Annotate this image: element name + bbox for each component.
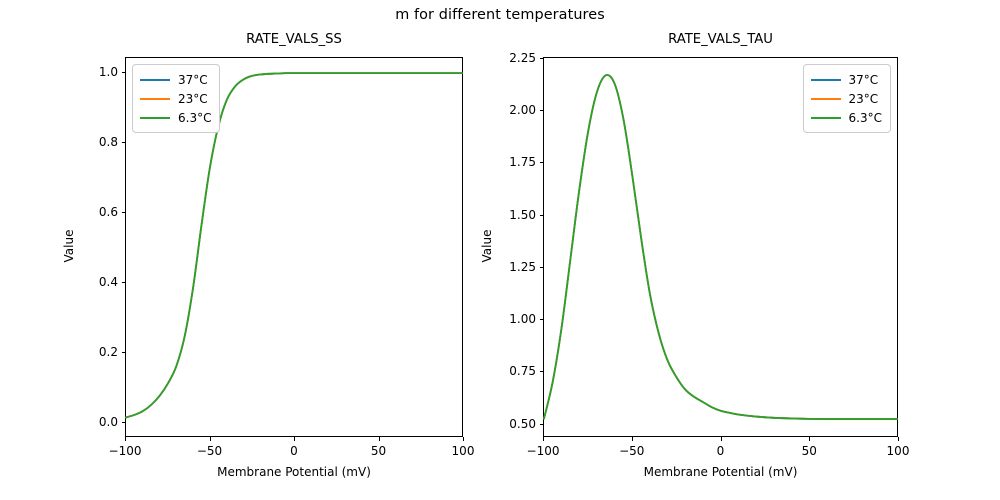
legend-line-swatch-icon — [811, 79, 841, 81]
legend-label: 23°C — [849, 93, 879, 105]
legend-entry-0[interactable]: 37°C — [811, 70, 882, 89]
x-ticklabel-0: −100 — [527, 444, 560, 458]
legend-ss[interactable]: 37°C23°C6.3°C — [132, 64, 220, 133]
y-tick-2 — [122, 282, 126, 283]
x-ticklabel-4: 100 — [452, 444, 475, 458]
y-ticklabel-2: 1.00 — [509, 312, 536, 326]
legend-line-swatch-icon — [811, 98, 841, 100]
x-ticklabel-1: −50 — [197, 444, 222, 458]
x-tick-0 — [543, 437, 544, 441]
legend-line-swatch-icon — [140, 79, 170, 81]
x-ticklabel-1: −50 — [619, 444, 644, 458]
x-tick-2 — [721, 437, 722, 441]
y-ticklabel-1: 0.2 — [99, 345, 118, 359]
x-ticklabel-0: −100 — [109, 444, 142, 458]
y-tick-5 — [540, 162, 544, 163]
x-ticklabel-2: 0 — [290, 444, 298, 458]
y-ticklabel-7: 2.25 — [509, 51, 536, 65]
legend-label: 6.3°C — [178, 112, 211, 124]
matplotlib-figure: m for different temperatures RATE_VALS_S… — [0, 0, 1000, 500]
y-tick-1 — [122, 352, 126, 353]
legend-label: 6.3°C — [849, 112, 882, 124]
y-ticklabel-2: 0.4 — [99, 275, 118, 289]
legend-line-swatch-icon — [811, 117, 841, 119]
x-tick-4 — [463, 437, 464, 441]
legend-label: 37°C — [178, 74, 208, 86]
x-axis-label: Membrane Potential (mV) — [125, 465, 463, 479]
subplot-title-ss: RATE_VALS_SS — [126, 32, 462, 47]
y-ticklabel-4: 1.50 — [509, 208, 536, 222]
x-ticklabel-4: 100 — [887, 444, 910, 458]
x-ticklabel-3: 50 — [802, 444, 817, 458]
figure-suptitle: m for different temperatures — [0, 7, 1000, 23]
x-tick-3 — [379, 437, 380, 441]
y-ticklabel-6: 2.00 — [509, 103, 536, 117]
x-tick-4 — [898, 437, 899, 441]
x-tick-3 — [809, 437, 810, 441]
y-axis-label: Value — [480, 56, 494, 436]
y-ticklabel-5: 1.75 — [509, 155, 536, 169]
subplot-title-tau: RATE_VALS_TAU — [544, 32, 897, 47]
x-ticklabel-3: 50 — [371, 444, 386, 458]
legend-entry-2[interactable]: 6.3°C — [811, 108, 882, 127]
y-tick-2 — [540, 319, 544, 320]
y-ticklabel-0: 0.50 — [509, 417, 536, 431]
legend-label: 23°C — [178, 93, 208, 105]
y-tick-3 — [122, 212, 126, 213]
x-tick-1 — [210, 437, 211, 441]
y-tick-0 — [122, 422, 126, 423]
x-ticklabel-2: 0 — [717, 444, 725, 458]
legend-entry-0[interactable]: 37°C — [140, 70, 211, 89]
legend-entry-2[interactable]: 6.3°C — [140, 108, 211, 127]
y-tick-4 — [122, 142, 126, 143]
y-ticklabel-3: 1.25 — [509, 260, 536, 274]
legend-entry-1[interactable]: 23°C — [140, 89, 211, 108]
y-tick-7 — [540, 58, 544, 59]
y-tick-5 — [122, 72, 126, 73]
y-tick-0 — [540, 424, 544, 425]
y-axis-label: Value — [62, 56, 76, 436]
x-tick-2 — [294, 437, 295, 441]
y-tick-3 — [540, 267, 544, 268]
y-tick-4 — [540, 215, 544, 216]
legend-entry-1[interactable]: 23°C — [811, 89, 882, 108]
y-tick-6 — [540, 110, 544, 111]
legend-line-swatch-icon — [140, 117, 170, 119]
legend-line-swatch-icon — [140, 98, 170, 100]
y-ticklabel-4: 0.8 — [99, 135, 118, 149]
legend-tau[interactable]: 37°C23°C6.3°C — [803, 64, 891, 133]
legend-label: 37°C — [849, 74, 879, 86]
y-ticklabel-0: 0.0 — [99, 415, 118, 429]
x-tick-1 — [632, 437, 633, 441]
y-ticklabel-5: 1.0 — [99, 65, 118, 79]
y-tick-1 — [540, 371, 544, 372]
y-ticklabel-1: 0.75 — [509, 364, 536, 378]
y-ticklabel-3: 0.6 — [99, 205, 118, 219]
x-axis-label: Membrane Potential (mV) — [543, 465, 898, 479]
x-tick-0 — [125, 437, 126, 441]
